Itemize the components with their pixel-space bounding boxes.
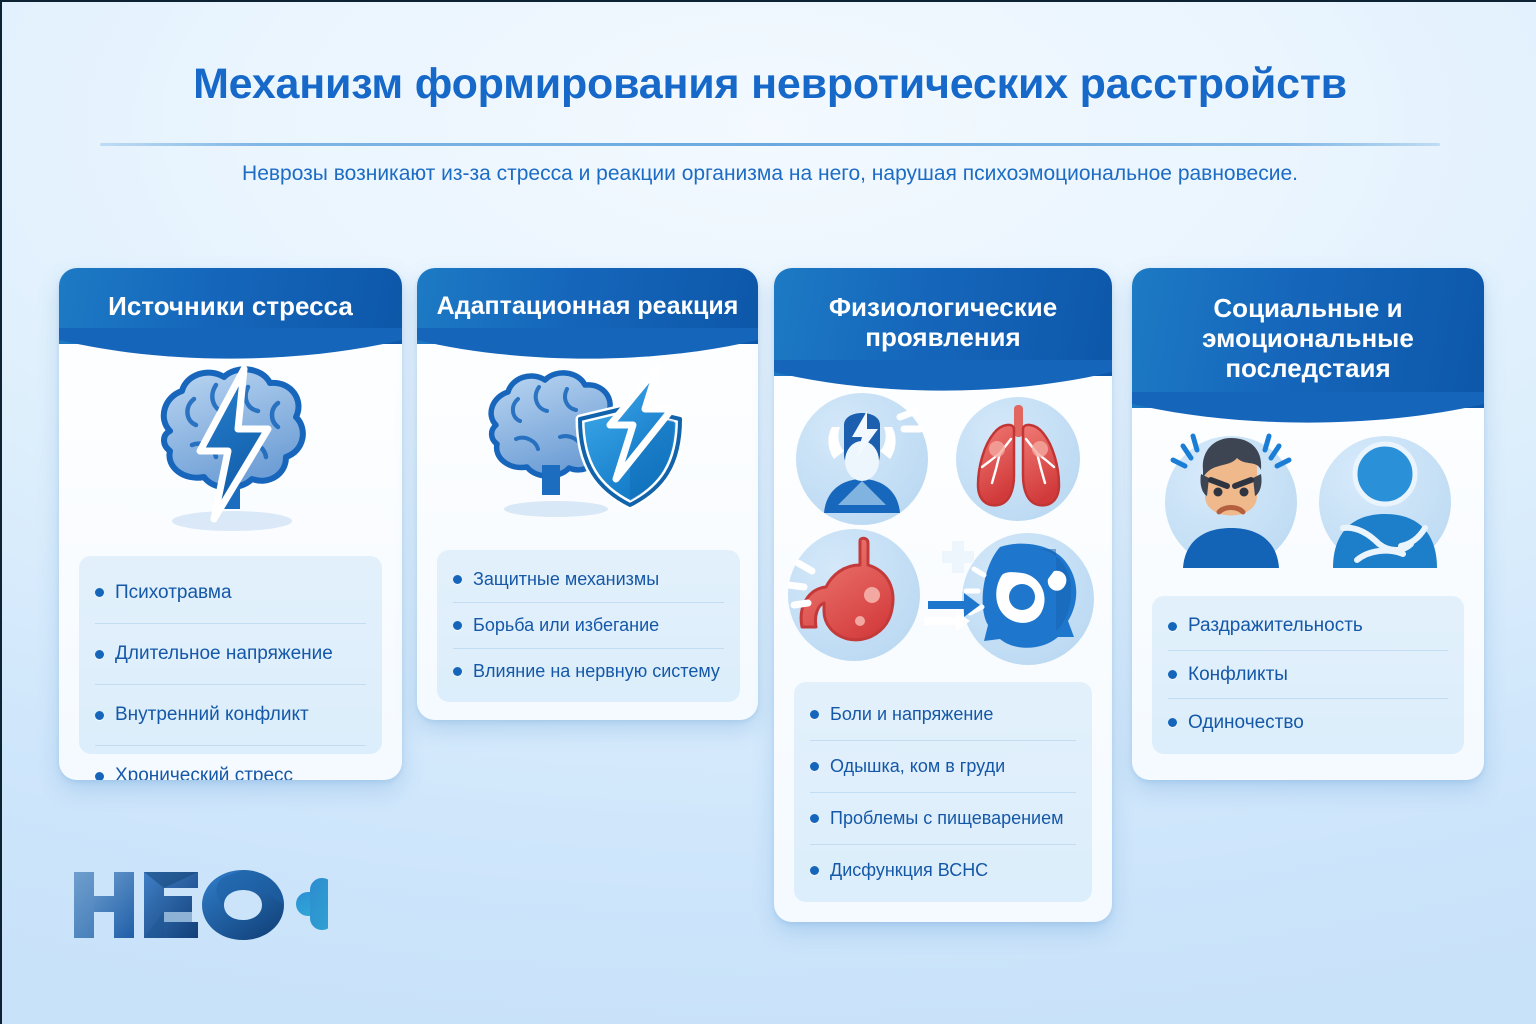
brain-shield-lightning-icon [470, 363, 706, 523]
bullet-icon [95, 588, 104, 597]
list-item[interactable]: Одиночество [1168, 698, 1448, 746]
list-item[interactable]: Одышка, ком в груди [810, 740, 1076, 792]
list-item-label: Психотравма [115, 582, 232, 604]
list-item[interactable]: Влияние на нервную систему [453, 648, 724, 694]
bullet-icon [1168, 670, 1177, 679]
bullet-icon [1168, 622, 1177, 631]
card-icon-area [59, 354, 402, 544]
list-item[interactable]: Длительное напряжение [95, 623, 366, 684]
list-item-label: Конфликты [1188, 664, 1288, 686]
card-title: Социальные и эмоциональные последстаия [1142, 293, 1474, 383]
list-item-label: Одышка, ком в груди [830, 756, 1005, 777]
list-item-label: Боли и напряжение [830, 704, 993, 725]
card-header: Физиологические проявления [774, 268, 1112, 376]
card-icon-area [1132, 418, 1484, 586]
list-item-label: Защитные механизмы [473, 569, 659, 590]
bullet-icon [453, 667, 462, 676]
title-divider [100, 143, 1440, 146]
list-item-label: Хронический стресс [115, 765, 293, 780]
card-physiological-manifestations[interactable]: Физиологические проявления [774, 268, 1112, 922]
card-title: Физиологические проявления [784, 292, 1102, 352]
bullet-icon [810, 762, 819, 771]
bullet-icon [453, 575, 462, 584]
card-list: Боли и напряжение Одышка, ком в груди Пр… [794, 682, 1092, 902]
bullet-icon [810, 710, 819, 719]
card-adaptive-reaction[interactable]: Адаптационная реакция [417, 268, 758, 720]
list-item[interactable]: Психотравма [95, 562, 366, 623]
bullet-icon [453, 621, 462, 630]
card-sources-of-stress[interactable]: Источники стресса [59, 268, 402, 780]
list-item[interactable]: Защитные механизмы [453, 556, 724, 602]
card-header: Социальные и эмоциональные последстаия [1132, 268, 1484, 408]
list-item[interactable]: Конфликты [1168, 650, 1448, 698]
brain-lightning-icon [136, 359, 326, 539]
neo-plus-logo-mark [68, 864, 328, 944]
card-list: Психотравма Длительное напряжение Внутре… [79, 556, 382, 754]
list-item[interactable]: Внутренний конфликт [95, 684, 366, 745]
card-icon-area [417, 354, 758, 532]
list-item-label: Влияние на нервную систему [473, 661, 720, 682]
card-list: Защитные механизмы Борьба или избегание … [437, 550, 740, 702]
neo-plus-logo[interactable] [68, 864, 328, 944]
bullet-icon [810, 814, 819, 823]
card-list: Раздражительность Конфликты Одиночество [1152, 596, 1464, 754]
card-title: Источники стресса [108, 291, 353, 321]
card-icon-area [774, 386, 1112, 672]
bullet-icon [810, 866, 819, 875]
card-header: Источники стресса [59, 268, 402, 344]
list-item-label: Внутренний конфликт [115, 704, 309, 726]
list-item[interactable]: Боли и напряжение [810, 688, 1076, 740]
card-header: Адаптационная реакция [417, 268, 758, 344]
list-item-label: Одиночество [1188, 712, 1304, 734]
list-item[interactable]: Раздражительность [1168, 602, 1448, 650]
list-item-label: Дисфункция ВСНС [830, 860, 988, 881]
list-item-label: Длительное напряжение [115, 643, 333, 665]
card-social-emotional-consequences[interactable]: Социальные и эмоциональные последстаия [1132, 268, 1484, 780]
bullet-icon [1168, 718, 1177, 727]
bullet-icon [95, 711, 104, 720]
physiology-icons [788, 389, 1098, 669]
page-subtitle: Неврозы возникают из-за стресса и реакци… [2, 162, 1536, 186]
infographic-canvas: Механизм формирования невротических расс… [0, 0, 1536, 1024]
list-item[interactable]: Борьба или избегание [453, 602, 724, 648]
list-item[interactable]: Хронический стресс [95, 745, 366, 780]
list-item-label: Борьба или избегание [473, 615, 659, 636]
card-title: Адаптационная реакция [437, 292, 739, 321]
bullet-icon [95, 650, 104, 659]
page-title: Механизм формирования невротических расс… [2, 60, 1536, 109]
list-item[interactable]: Проблемы с пищеварением [810, 792, 1076, 844]
social-emotional-icons [1153, 422, 1463, 582]
list-item[interactable]: Дисфункция ВСНС [810, 844, 1076, 896]
bullet-icon [95, 772, 104, 781]
list-item-label: Раздражительность [1188, 615, 1363, 637]
list-item-label: Проблемы с пищеварением [830, 808, 1063, 829]
